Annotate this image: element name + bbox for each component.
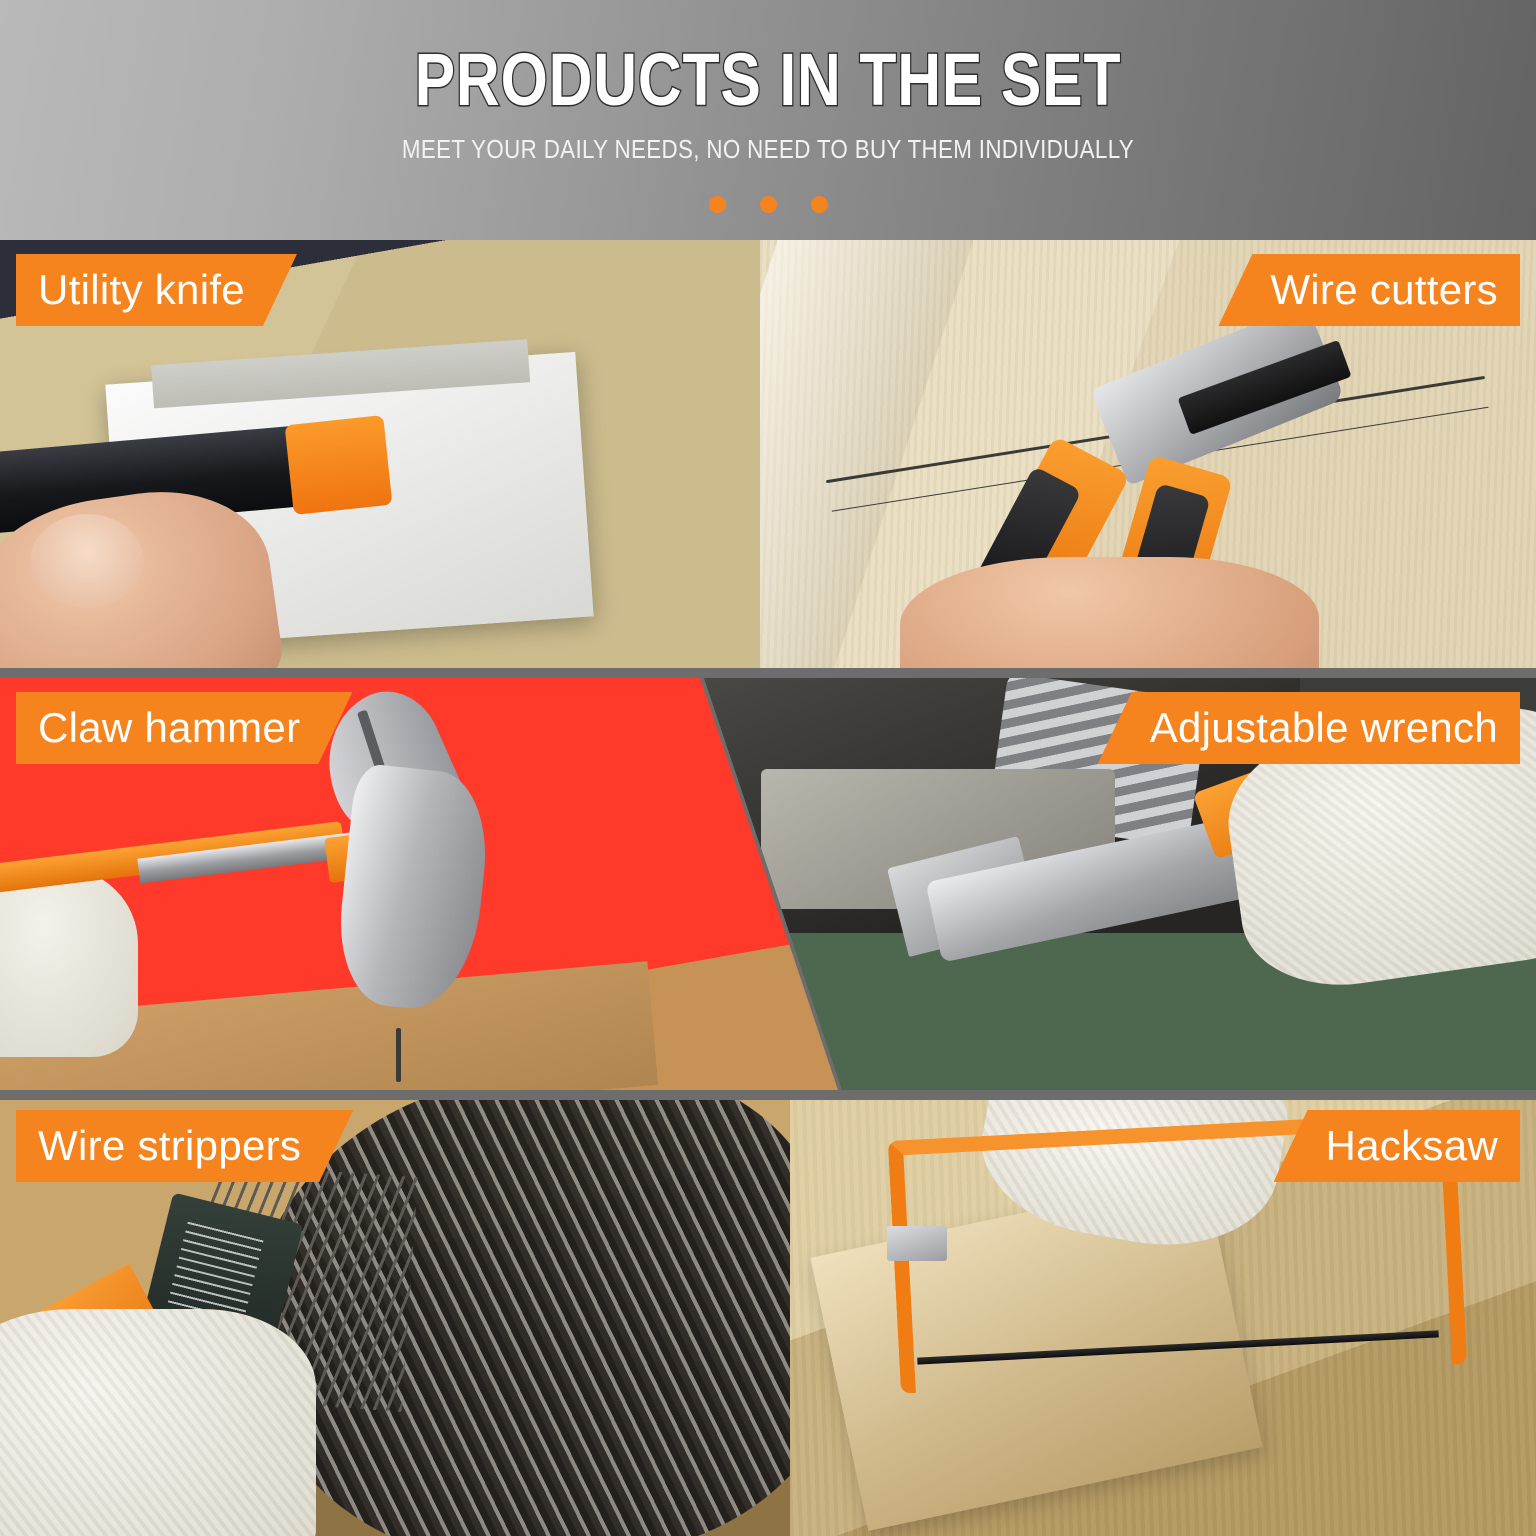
- label-wire-cutters: Wire cutters: [1218, 254, 1520, 326]
- product-row-2: Claw hammer Adjustable wrench: [0, 678, 1536, 1090]
- dot-icon: [760, 196, 777, 213]
- product-row-1: Utility knife Wire cutters: [0, 240, 1536, 668]
- product-grid: Utility knife Wire cutters: [0, 240, 1536, 1536]
- dot-icon: [811, 196, 828, 213]
- panel-wire-strippers[interactable]: Wire strippers: [0, 1100, 790, 1536]
- label-claw-hammer: Claw hammer: [16, 692, 352, 764]
- dot-separator: [0, 196, 1536, 213]
- label-wire-strippers: Wire strippers: [16, 1110, 353, 1182]
- label-hacksaw: Hacksaw: [1274, 1110, 1520, 1182]
- label-utility-knife: Utility knife: [16, 254, 297, 326]
- product-row-3: Wire strippers Hacksaw: [0, 1100, 1536, 1536]
- dot-icon: [709, 196, 726, 213]
- panel-utility-knife[interactable]: Utility knife: [0, 240, 760, 668]
- label-adjustable-wrench: Adjustable wrench: [1098, 692, 1520, 764]
- page-title: PRODUCTS IN THE SET: [138, 42, 1398, 118]
- panel-hacksaw[interactable]: Hacksaw: [790, 1100, 1536, 1536]
- page-subtitle: MEET YOUR DAILY NEEDS, NO NEED TO BUY TH…: [108, 134, 1429, 164]
- panel-wire-cutters[interactable]: Wire cutters: [760, 240, 1536, 668]
- product-set-infographic: PRODUCTS IN THE SET MEET YOUR DAILY NEED…: [0, 0, 1536, 1536]
- header-banner: PRODUCTS IN THE SET MEET YOUR DAILY NEED…: [0, 0, 1536, 240]
